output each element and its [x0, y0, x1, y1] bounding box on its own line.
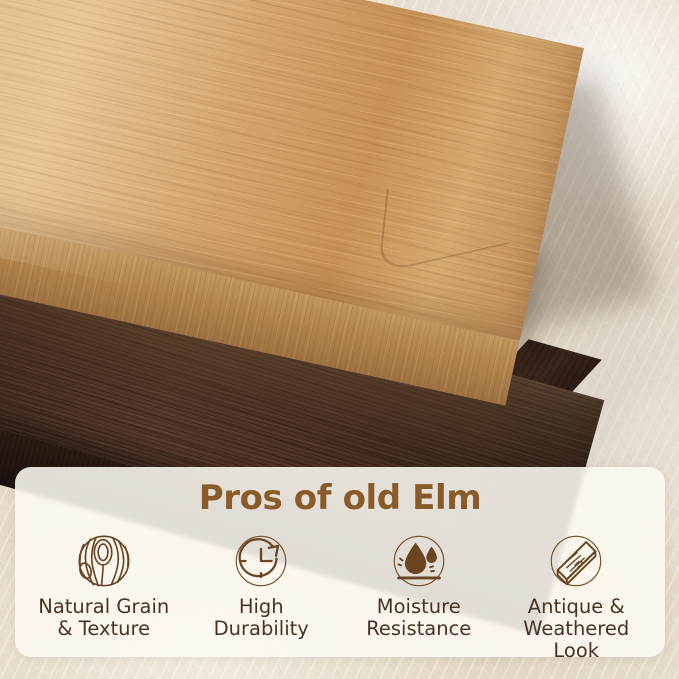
pro-label-antique-weathered: Antique & Weathered Look	[498, 596, 656, 662]
pros-panel: Pros of old Elm	[15, 467, 665, 657]
pro-label-moisture-resistance: Moisture Resistance	[366, 596, 471, 640]
wood-plank-icon	[545, 530, 607, 592]
wood-grain-icon	[73, 530, 135, 592]
pro-item-moisture-resistance: Moisture Resistance	[340, 530, 498, 640]
clock-refresh-icon	[230, 530, 292, 592]
pro-label-high-durability: High Durability	[214, 596, 309, 640]
pro-label-natural-grain: Natural Grain & Texture	[38, 596, 169, 640]
panel-title: Pros of old Elm	[15, 467, 665, 518]
water-droplet-icon	[388, 530, 450, 592]
pro-item-high-durability: High Durability	[183, 530, 341, 640]
pro-item-natural-grain: Natural Grain & Texture	[25, 530, 183, 640]
pro-item-antique-weathered: Antique & Weathered Look	[498, 530, 656, 662]
product-image-scene: Pros of old Elm	[0, 0, 679, 679]
pros-list: Natural Grain & Texture High Durability	[15, 518, 665, 662]
